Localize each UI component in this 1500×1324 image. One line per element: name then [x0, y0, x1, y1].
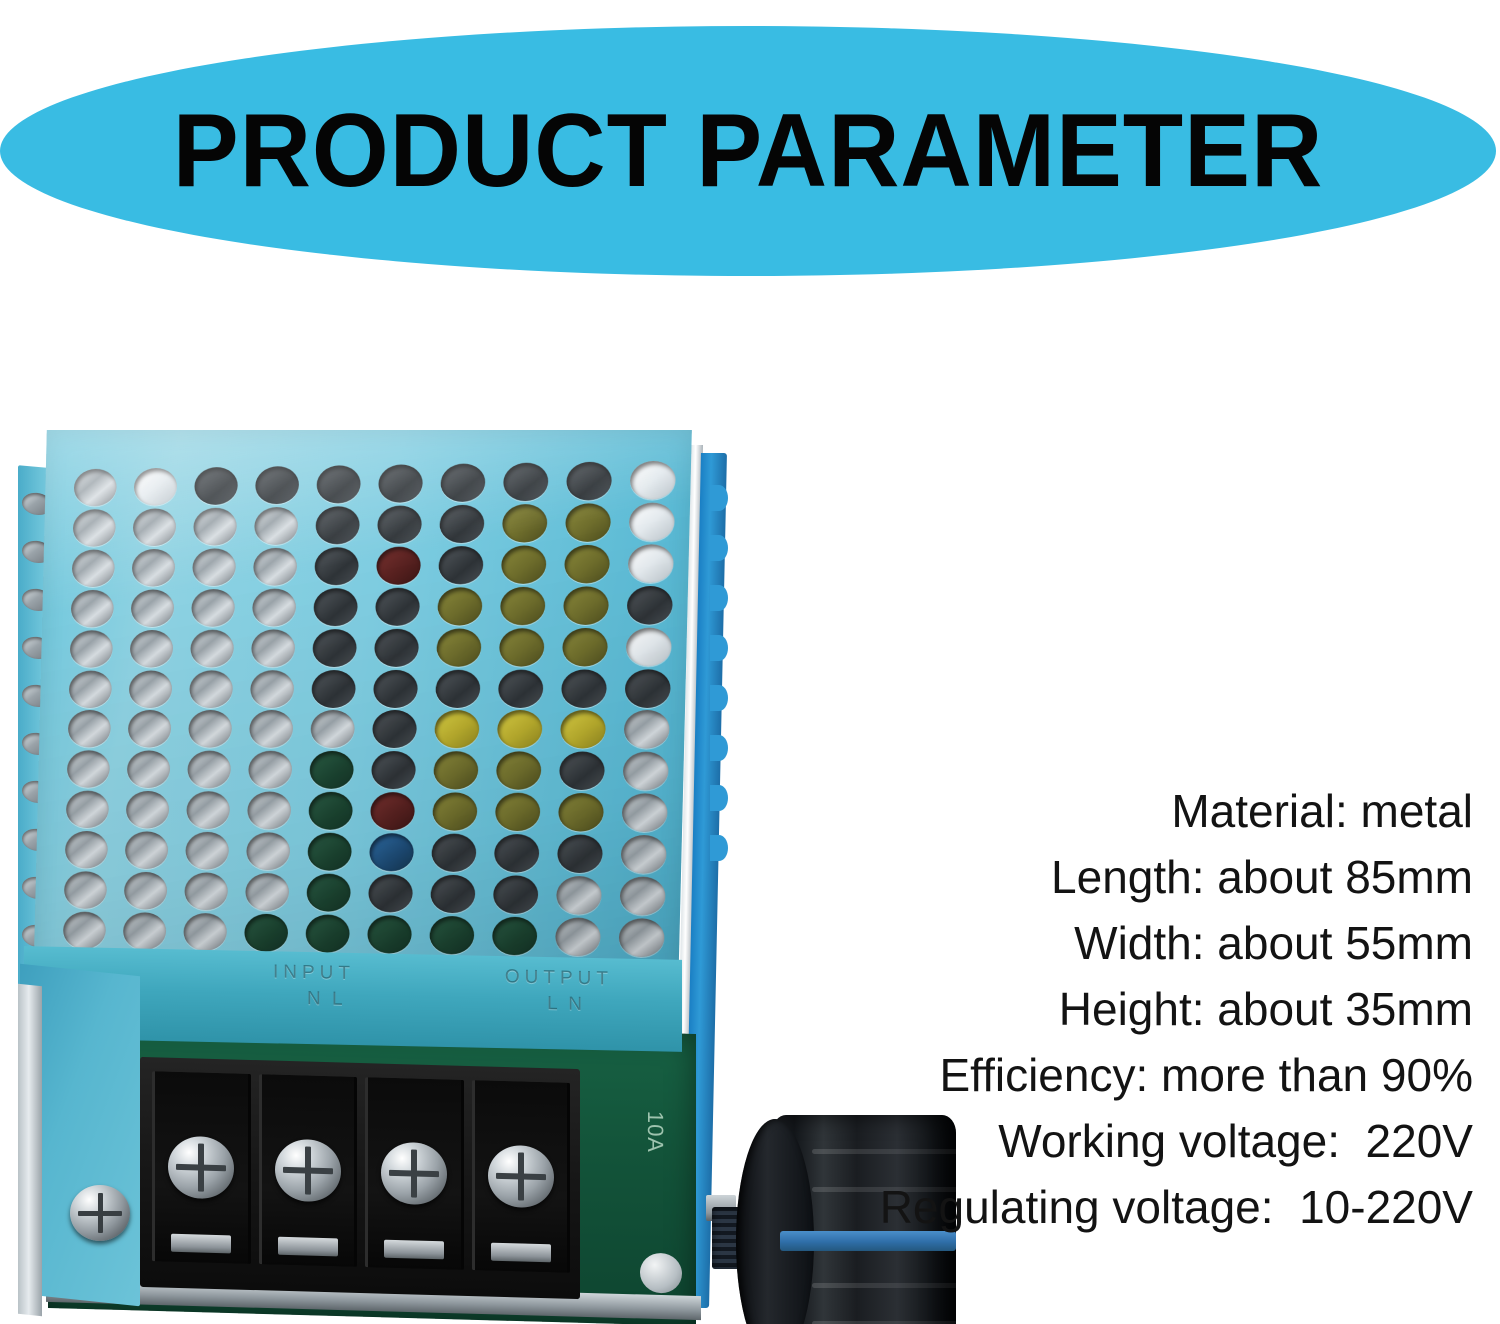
vent-hole	[254, 507, 298, 545]
vent-hole	[124, 871, 168, 909]
vent-hole	[560, 710, 606, 749]
vent-hole	[69, 670, 112, 707]
terminal-cell	[472, 1080, 571, 1273]
vent-hole	[253, 548, 297, 586]
vent-hole	[370, 792, 415, 830]
pcb-edge-scallop	[710, 585, 728, 611]
spec-line-width: Width: about 55mm	[753, 910, 1473, 976]
vent-hole	[371, 751, 416, 789]
vent-hole	[500, 587, 546, 626]
vent-hole	[132, 549, 176, 587]
vent-hole	[133, 509, 177, 547]
vent-hole	[375, 588, 420, 626]
header-banner: PRODUCT PARAMETER	[0, 26, 1496, 276]
vent-hole	[367, 915, 412, 954]
vent-hole	[559, 752, 605, 791]
vent-hole	[70, 630, 113, 668]
vent-hole	[377, 506, 422, 545]
vent-hole	[556, 876, 602, 915]
vent-hole	[189, 670, 233, 708]
vent-hole	[245, 873, 289, 911]
vent-hole	[501, 545, 547, 584]
vent-hole	[623, 752, 669, 791]
vent-hole	[190, 629, 234, 667]
vent-hole	[246, 832, 290, 870]
terminal-screw-icon	[168, 1136, 234, 1200]
page-title: PRODUCT PARAMETER	[37, 26, 1458, 276]
vent-hole	[566, 462, 612, 501]
vent-hole	[432, 792, 477, 830]
vent-hole	[314, 547, 359, 585]
vent-hole	[435, 669, 480, 707]
pcb-edge-scallop	[710, 535, 728, 561]
vent-hole	[624, 710, 670, 749]
terminal-cell	[152, 1071, 251, 1264]
vent-hole	[309, 751, 354, 789]
vent-hole	[565, 503, 611, 542]
vent-hole	[620, 876, 666, 915]
vent-hole	[311, 670, 356, 708]
pcb-fuse-rating-label: 10A	[642, 1111, 668, 1154]
pcb-edge-scallop	[710, 785, 728, 811]
vent-hole	[307, 833, 352, 871]
pcb-edge-scallop	[710, 685, 728, 711]
vent-hole	[368, 874, 413, 913]
vent-hole-grid	[54, 460, 685, 959]
vent-hole	[193, 508, 237, 546]
spec-line-material: Material: metal	[753, 778, 1473, 844]
vent-hole	[630, 461, 676, 500]
vent-hole	[312, 629, 357, 667]
terminal-clamp-plate	[384, 1240, 444, 1260]
spec-line-working-voltage: Working voltage: 220V	[753, 1108, 1473, 1174]
vent-hole	[194, 467, 238, 505]
terminal-screw-icon	[275, 1139, 341, 1203]
vent-hole	[495, 793, 541, 832]
specification-list: Material: metal Length: about 85mm Width…	[753, 778, 1473, 1240]
vent-hole	[192, 548, 236, 586]
vent-hole	[306, 873, 351, 911]
vent-hole	[186, 791, 230, 829]
vent-hole	[555, 917, 601, 956]
io-embossed-labels: INPUT OUTPUT N L L N	[273, 961, 613, 1048]
spec-line-height: Height: about 35mm	[753, 976, 1473, 1042]
terminal-cell	[365, 1077, 464, 1270]
vent-hole	[625, 669, 671, 708]
vent-hole	[438, 546, 483, 585]
vent-hole	[621, 835, 667, 874]
vent-hole	[374, 628, 419, 666]
vent-hole	[244, 913, 288, 951]
input-terminal-label: N L	[307, 988, 346, 1011]
vent-hole	[558, 793, 604, 832]
vent-hole	[184, 872, 228, 910]
terminal-clamp-plate	[278, 1237, 338, 1257]
vent-hole	[130, 630, 174, 668]
pcb-edge-scallop	[710, 635, 728, 661]
vent-hole	[188, 710, 232, 748]
vent-hole	[440, 464, 485, 503]
product-parameter-infographic: PRODUCT PARAMETER 10A	[0, 0, 1500, 1324]
vent-hole	[127, 751, 171, 789]
vent-hole	[67, 751, 110, 789]
knob-rib	[812, 1283, 990, 1288]
vent-hole	[433, 751, 478, 789]
vent-hole	[255, 466, 299, 504]
pcb-mounting-hole	[640, 1252, 682, 1293]
vent-hole	[313, 588, 358, 626]
vent-hole	[72, 549, 115, 587]
vent-hole	[619, 918, 665, 957]
vent-hole	[185, 832, 229, 870]
vent-hole	[629, 503, 675, 542]
vent-hole	[308, 792, 353, 830]
vent-hole	[497, 710, 543, 748]
spec-line-length: Length: about 85mm	[753, 844, 1473, 910]
vent-hole	[503, 463, 549, 502]
terminal-block	[140, 1057, 580, 1299]
output-label: OUTPUT	[505, 966, 613, 990]
pcb-edge-scallop	[710, 485, 728, 511]
perforated-cover	[33, 430, 692, 990]
vent-hole	[183, 912, 227, 950]
vent-hole	[249, 710, 293, 748]
terminal-clamp-plate	[171, 1234, 231, 1254]
vent-hole	[73, 509, 116, 547]
vent-hole	[64, 871, 107, 909]
vent-hole	[129, 670, 173, 708]
vent-hole	[252, 588, 296, 626]
vent-hole	[627, 586, 673, 625]
output-terminal-label: L N	[547, 993, 585, 1016]
vent-hole	[436, 628, 481, 666]
vent-hole	[251, 629, 295, 667]
vent-hole	[498, 669, 544, 707]
vent-hole	[499, 628, 545, 667]
vent-hole	[310, 710, 355, 748]
input-label: INPUT	[273, 961, 355, 985]
left-chassis-rail	[18, 984, 42, 1317]
product-photo: 10A INPUT OUTPUT	[18, 425, 738, 1315]
vent-hole	[134, 468, 178, 506]
vent-hole	[187, 751, 231, 789]
pcb-edge-scallop	[710, 735, 728, 761]
vent-hole	[502, 504, 548, 543]
vent-hole	[496, 752, 542, 791]
vent-hole	[63, 911, 106, 949]
vent-hole	[372, 710, 417, 748]
vent-hole	[250, 670, 294, 708]
terminal-screw-icon	[488, 1145, 554, 1209]
vent-hole	[622, 793, 668, 832]
vent-hole	[628, 544, 674, 583]
vent-hole	[74, 469, 117, 507]
terminal-screw-icon	[381, 1142, 447, 1206]
vent-hole	[494, 834, 540, 873]
vent-hole	[434, 710, 479, 748]
vent-hole	[626, 627, 672, 666]
vent-hole	[65, 831, 108, 869]
vent-hole	[493, 875, 539, 914]
vent-hole	[125, 831, 169, 869]
terminal-clamp-plate	[491, 1243, 551, 1263]
vent-hole	[439, 505, 484, 544]
spec-line-efficiency: Efficiency: more than 90%	[753, 1042, 1473, 1108]
vent-hole	[131, 589, 175, 627]
vent-hole	[71, 590, 114, 628]
vent-hole	[315, 506, 360, 544]
vent-hole	[123, 912, 167, 950]
vent-hole	[373, 669, 418, 707]
vent-hole	[429, 915, 474, 954]
terminal-cell	[259, 1074, 358, 1267]
mounting-screw-icon	[70, 1185, 130, 1241]
vent-hole	[369, 833, 414, 871]
vent-hole	[378, 465, 423, 504]
vent-hole	[376, 547, 421, 585]
vent-hole	[437, 587, 482, 625]
vent-hole	[248, 751, 292, 789]
vent-hole	[563, 586, 609, 625]
pcb-edge-scallop	[710, 835, 728, 861]
vent-hole	[66, 791, 109, 829]
vent-hole	[128, 710, 172, 748]
vent-hole	[305, 914, 350, 953]
vent-hole	[561, 669, 607, 708]
vent-hole	[430, 874, 475, 913]
vent-hole	[126, 791, 170, 829]
vent-hole	[431, 833, 476, 872]
vent-hole	[557, 834, 603, 873]
vent-hole	[316, 466, 361, 505]
vent-hole	[564, 545, 610, 584]
vent-hole	[562, 628, 608, 667]
vent-hole	[492, 916, 538, 955]
vent-hole	[191, 589, 235, 627]
vent-hole	[68, 710, 111, 747]
spec-line-regulating-voltage: Regulating voltage: 10-220V	[753, 1174, 1473, 1240]
vent-hole	[247, 792, 291, 830]
